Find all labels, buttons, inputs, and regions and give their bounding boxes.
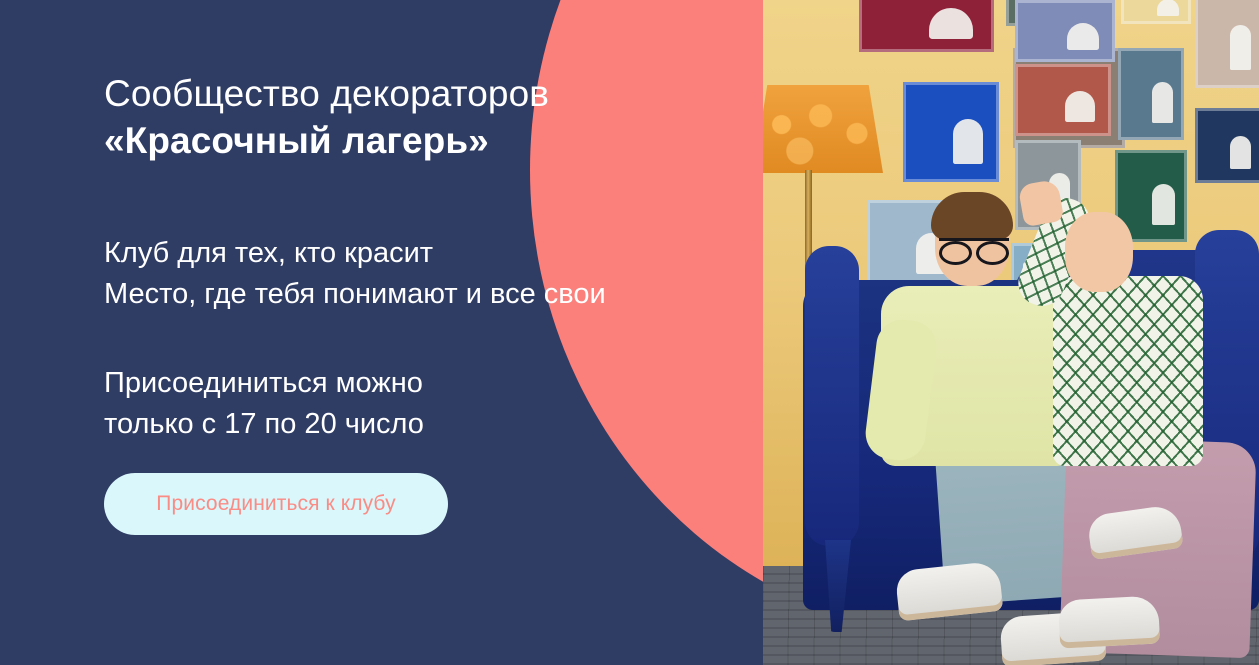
art-frame-motif [1230, 25, 1251, 70]
art-frame-motif [929, 8, 973, 39]
sofa-arm-left [805, 246, 859, 546]
woman-jacket [1053, 276, 1203, 466]
notice-line-2: только с 17 по 20 число [104, 404, 424, 445]
art-frame-motif [1230, 136, 1251, 169]
art-frame-motif [1065, 91, 1096, 123]
man-glasses [939, 238, 1009, 256]
notice-line-1: Присоединиться можно [104, 363, 424, 404]
art-frame-motif [1067, 23, 1099, 50]
hero-banner: Сообщество декораторов «Красочный лагерь… [0, 0, 1259, 665]
headline-line-1: Сообщество декораторов [104, 70, 549, 117]
art-frame-slate-blue [1118, 48, 1184, 140]
woman-sneaker-right [1058, 595, 1160, 648]
hero-notice: Присоединиться можно только с 17 по 20 ч… [104, 363, 424, 445]
art-frame-motif [953, 119, 984, 164]
join-club-button[interactable]: Присоединиться к клубу [104, 473, 448, 535]
art-frame-motif [1157, 0, 1179, 16]
art-frame-motif [1152, 184, 1174, 225]
hero-photo [763, 0, 1259, 665]
subtitle-line-1: Клуб для тех, кто красит [104, 233, 606, 274]
woman-head [1065, 212, 1133, 292]
art-frame-periwinkle [1015, 0, 1115, 62]
hero-content: Сообщество декораторов «Красочный лагерь… [0, 0, 763, 665]
art-frame-pale-yellow [1121, 0, 1191, 24]
art-frame-cobalt-blue [903, 82, 999, 182]
lamp-shade [763, 85, 883, 173]
man-hair [931, 192, 1013, 240]
art-frame-beige [1195, 0, 1259, 88]
hero-subtitle: Клуб для тех, кто красит Место, где тебя… [104, 233, 606, 315]
subtitle-line-2: Место, где тебя понимают и все свои [104, 274, 606, 315]
art-frame-burgundy [859, 0, 994, 52]
headline-line-2: «Красочный лагерь» [104, 117, 549, 164]
art-frame-navy-panel [1195, 108, 1259, 183]
art-frame-motif [1152, 82, 1172, 123]
art-frame-terracotta [1015, 64, 1111, 136]
page-title: Сообщество декораторов «Красочный лагерь… [104, 70, 549, 165]
